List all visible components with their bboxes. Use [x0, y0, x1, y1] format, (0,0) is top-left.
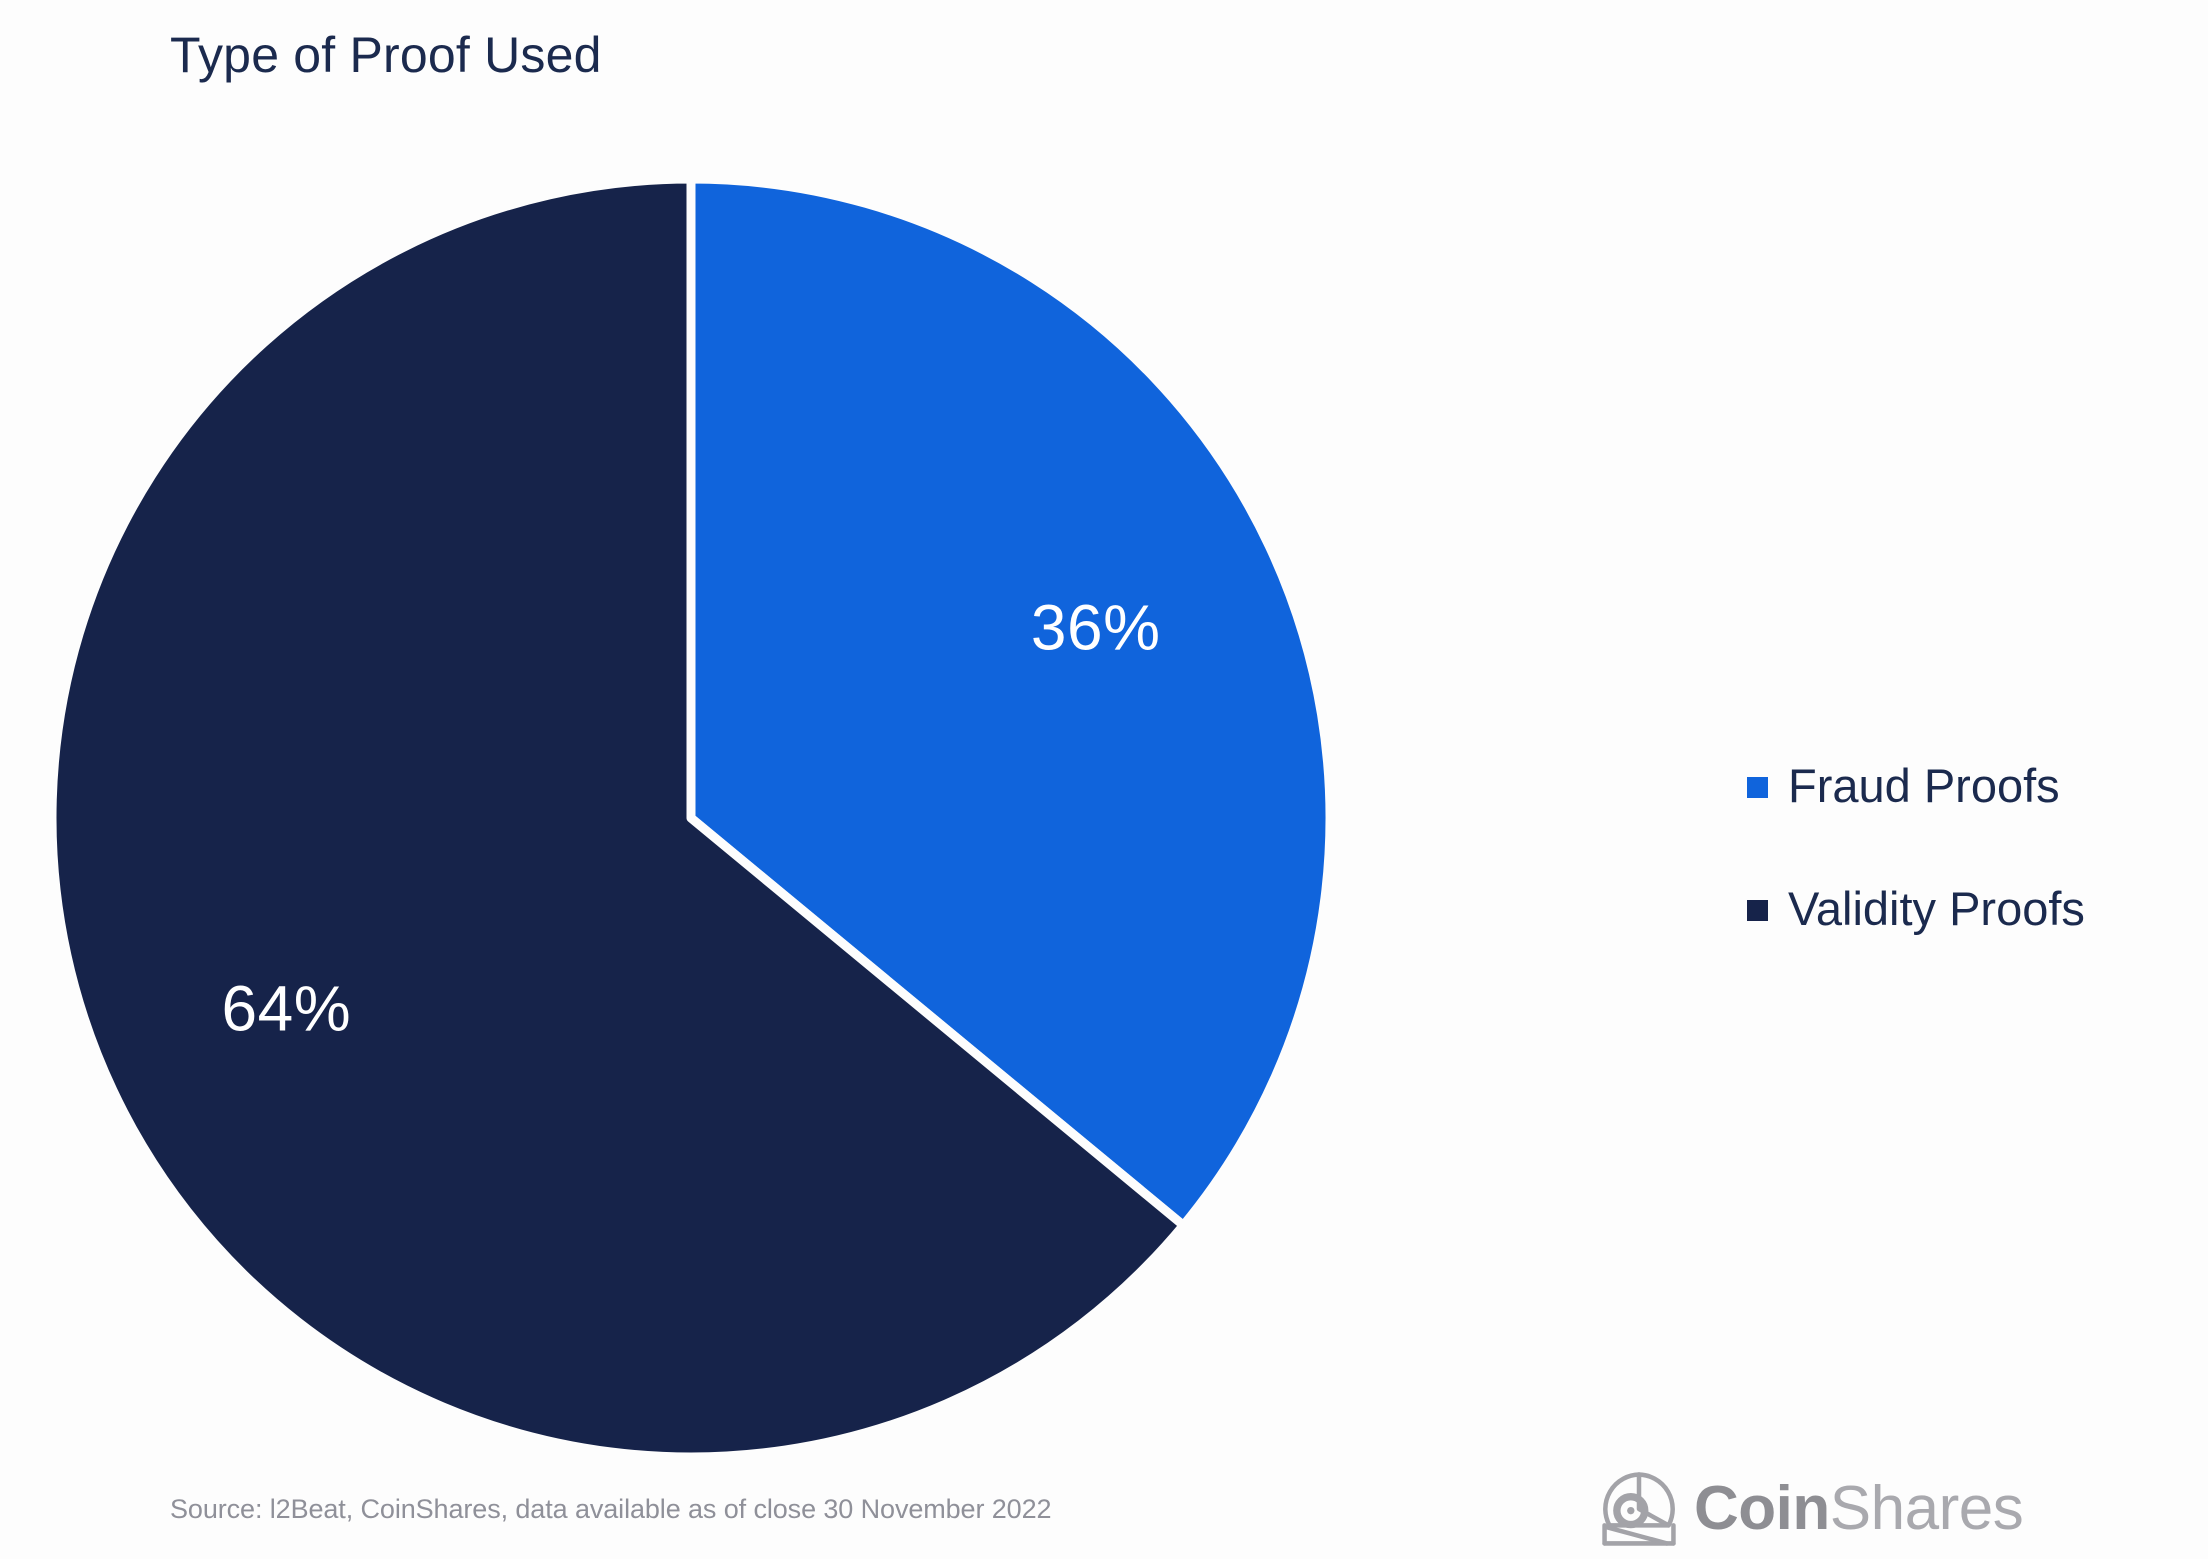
legend-item-label: Validity Proofs [1788, 885, 2085, 932]
coinshares-wordmark: CoinShares [1694, 1478, 2023, 1540]
pie-chart-svg: 36% 64% [0, 0, 1460, 1500]
source-note: Source: l2Beat, CoinShares, data availab… [170, 1494, 1051, 1525]
chart-canvas: Type of Proof Used 36% 64% Fraud Proofs … [0, 0, 2208, 1559]
legend-swatch-icon [1747, 777, 1768, 798]
pie-slice-label-fraud-proofs: 36% [1031, 592, 1161, 664]
legend-swatch-icon [1747, 900, 1768, 921]
legend-item-validity-proofs[interactable]: Validity Proofs [1747, 885, 2085, 932]
coinshares-logo: CoinShares [1598, 1468, 2023, 1550]
pie-slice-label-validity-proofs: 64% [222, 973, 352, 1045]
legend-item-label: Fraud Proofs [1788, 762, 2060, 809]
chart-legend: Fraud Proofs Validity Proofs [1747, 762, 2085, 932]
brand-name-light: Shares [1830, 1474, 2023, 1543]
legend-item-fraud-proofs[interactable]: Fraud Proofs [1747, 762, 2085, 809]
pie-chart: 36% 64% [0, 0, 1460, 1500]
coinshares-mark-icon [1598, 1468, 1680, 1550]
brand-name-bold: Coin [1694, 1474, 1830, 1543]
